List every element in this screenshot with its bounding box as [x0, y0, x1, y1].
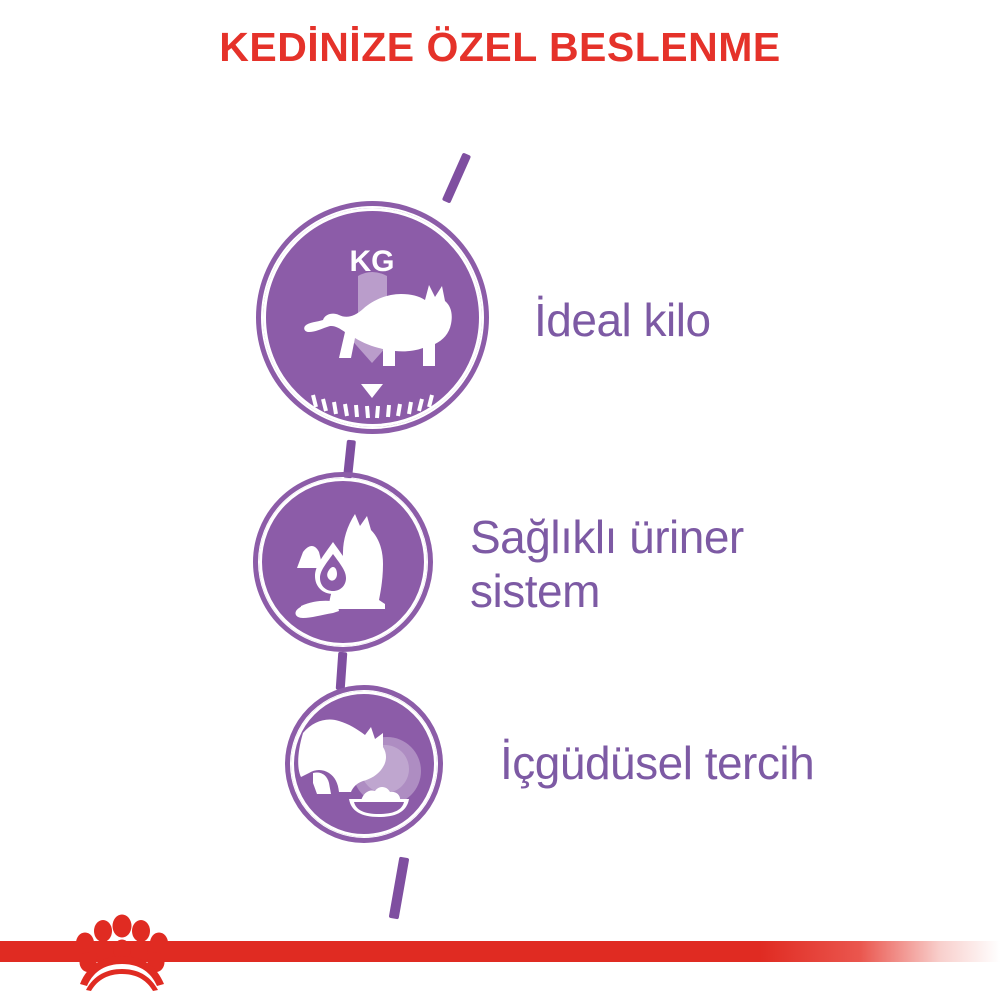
infographic-page: KEDİNİZE ÖZEL BESLENME KG — [0, 0, 1000, 1000]
connector-dash-bottom — [389, 857, 410, 920]
connector-dash-top — [442, 152, 471, 203]
cat-water-drop-glyph — [259, 478, 427, 646]
cat-water-drop-icon — [259, 478, 427, 646]
feature-label-instinctive-preference: İçgüdüsel tercih — [500, 736, 814, 790]
royal-canin-crown-logo — [62, 914, 180, 992]
feature-label-ideal-weight: İdeal kilo — [534, 293, 711, 347]
crown-logo-glyph — [62, 914, 180, 992]
weight-scale-cat-icon: KG — [263, 208, 482, 427]
page-title: KEDİNİZE ÖZEL BESLENME — [0, 22, 1000, 72]
connector-dash-2-3 — [336, 652, 348, 691]
feature-label-urinary-health: Sağlıklı üriner sistem — [470, 510, 744, 618]
cat-food-bowl-icon — [291, 691, 437, 837]
brand-band-left-segment — [0, 941, 62, 962]
cat-food-bowl-glyph — [291, 691, 437, 837]
weight-scale-cat-glyph: KG — [263, 208, 482, 427]
